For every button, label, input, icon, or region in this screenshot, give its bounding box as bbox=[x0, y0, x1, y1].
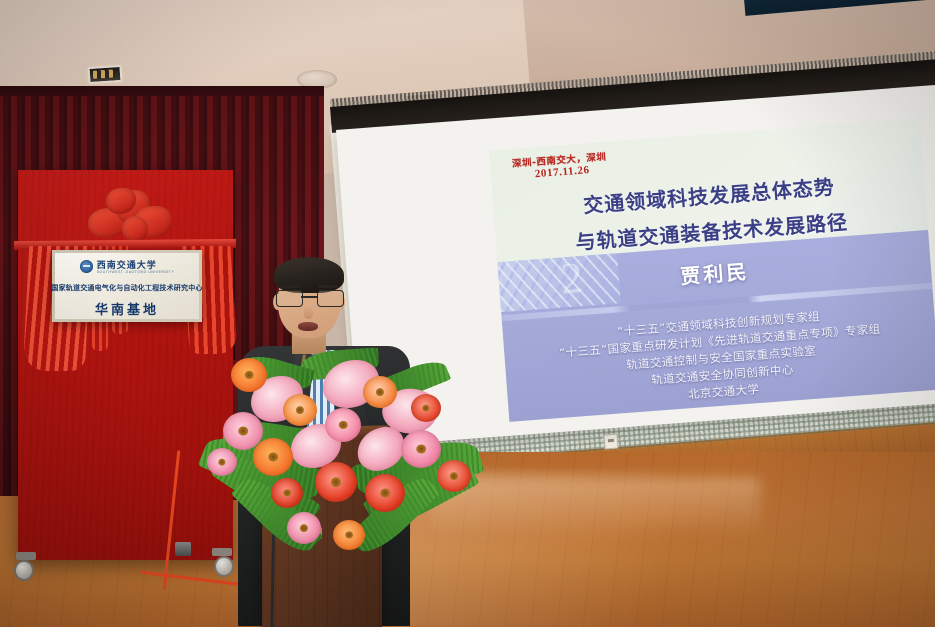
eyeglasses-icon bbox=[276, 290, 342, 306]
wall-outlet bbox=[603, 433, 618, 449]
eyeglass-lens-right bbox=[317, 290, 344, 307]
gerbera-bloom bbox=[253, 438, 293, 476]
eyeglass-bridge bbox=[301, 296, 317, 298]
flower-arrangement bbox=[205, 352, 495, 567]
gerbera-bloom bbox=[365, 474, 405, 512]
unveiled-plaque: 西南交通大学 SOUTHWEST JIAOTONG UNIVERSITY 国家轨… bbox=[52, 250, 202, 322]
gerbera-bloom bbox=[333, 520, 365, 550]
eyeglass-lens-left bbox=[276, 290, 303, 307]
speaker-nose bbox=[304, 306, 313, 319]
speaker-eyebrow bbox=[280, 285, 300, 288]
gerbera-bloom bbox=[231, 358, 267, 392]
gerbera-bloom bbox=[287, 512, 321, 544]
presentation-slide: 深圳-西南交大，深圳 2017.11.26 交通领域科技发展总体态势 与轨道交通… bbox=[489, 118, 935, 422]
speaker-mouth bbox=[298, 322, 318, 331]
stand-caster-arm bbox=[16, 552, 36, 560]
gerbera-bloom bbox=[271, 478, 303, 508]
plaque-university-name-en: SOUTHWEST JIAOTONG UNIVERSITY bbox=[97, 270, 175, 274]
speaker-eyebrow bbox=[318, 285, 338, 288]
floor-socket-box bbox=[175, 542, 191, 556]
gerbera-bloom bbox=[325, 408, 361, 442]
stand-caster-wheel bbox=[14, 560, 34, 581]
gerbera-bloom bbox=[207, 448, 237, 476]
plaque-university-block: 西南交通大学 SOUTHWEST JIAOTONG UNIVERSITY bbox=[97, 258, 175, 274]
gerbera-bloom bbox=[315, 462, 357, 502]
plaque-logo-row: 西南交通大学 SOUTHWEST JIAOTONG UNIVERSITY bbox=[80, 258, 175, 274]
gerbera-bloom bbox=[401, 430, 441, 468]
ceiling-downlight bbox=[87, 65, 122, 84]
plaque-base-name: 华南基地 bbox=[95, 299, 159, 318]
photo-scene: 深圳-西南交大，深圳 2017.11.26 交通领域科技发展总体态势 与轨道交通… bbox=[0, 0, 935, 627]
plaque-center-name: 国家轨道交通电气化与自动化工程技术研究中心 bbox=[51, 283, 202, 293]
gerbera-bloom bbox=[411, 394, 441, 422]
gerbera-bloom bbox=[363, 376, 397, 408]
gerbera-bloom bbox=[437, 460, 471, 492]
university-seal-icon bbox=[80, 260, 93, 273]
gerbera-bloom bbox=[283, 394, 317, 426]
